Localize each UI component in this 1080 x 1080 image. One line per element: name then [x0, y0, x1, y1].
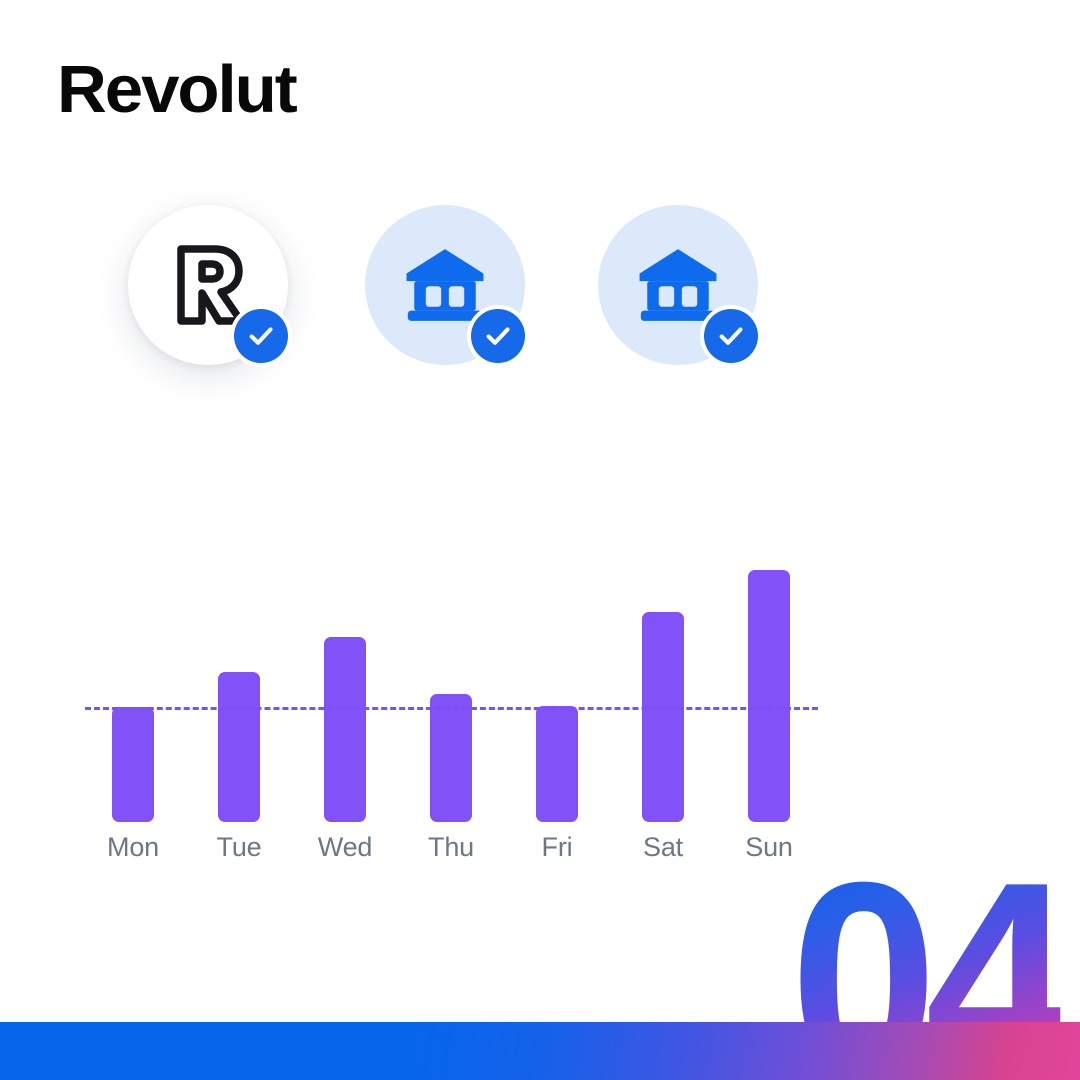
- average-reference-line: [85, 707, 818, 710]
- chart-bar: [430, 694, 472, 822]
- chart-x-label: Sat: [613, 832, 713, 863]
- weekly-spending-chart: MonTueWedThuFriSatSun: [85, 540, 845, 885]
- check-icon: [716, 321, 746, 351]
- chart-bar: [324, 637, 366, 822]
- chart-bar: [218, 672, 260, 822]
- verified-badge: [700, 305, 762, 367]
- chart-x-label: Fri: [507, 832, 607, 863]
- chart-bar: [112, 707, 154, 822]
- verified-badge-fill: [234, 309, 288, 363]
- slide-canvas: Revolut: [0, 0, 1080, 1080]
- bottom-gradient-bar: [0, 1022, 1080, 1080]
- check-icon: [246, 321, 276, 351]
- verified-badge-fill: [471, 309, 525, 363]
- bank-icon: [637, 246, 719, 324]
- linked-accounts-row: [128, 205, 828, 390]
- verified-badge: [230, 305, 292, 367]
- chart-x-axis-labels: MonTueWedThuFriSatSun: [85, 832, 845, 872]
- revolut-r-icon: [169, 243, 247, 327]
- check-icon: [483, 321, 513, 351]
- verified-badge: [467, 305, 529, 367]
- revolut-wordmark: Revolut: [57, 56, 296, 123]
- account-item-bank-1[interactable]: [365, 205, 525, 365]
- chart-bar: [748, 570, 790, 822]
- chart-plot-area: [85, 540, 845, 822]
- verified-badge-fill: [704, 309, 758, 363]
- chart-x-label: Mon: [83, 832, 183, 863]
- bank-icon: [404, 246, 486, 324]
- chart-x-label: Wed: [295, 832, 395, 863]
- chart-bar: [642, 612, 684, 822]
- account-item-bank-2[interactable]: [598, 205, 758, 365]
- account-item-revolut[interactable]: [128, 205, 288, 365]
- chart-bar: [536, 706, 578, 822]
- chart-x-label: Thu: [401, 832, 501, 863]
- chart-x-label: Tue: [189, 832, 289, 863]
